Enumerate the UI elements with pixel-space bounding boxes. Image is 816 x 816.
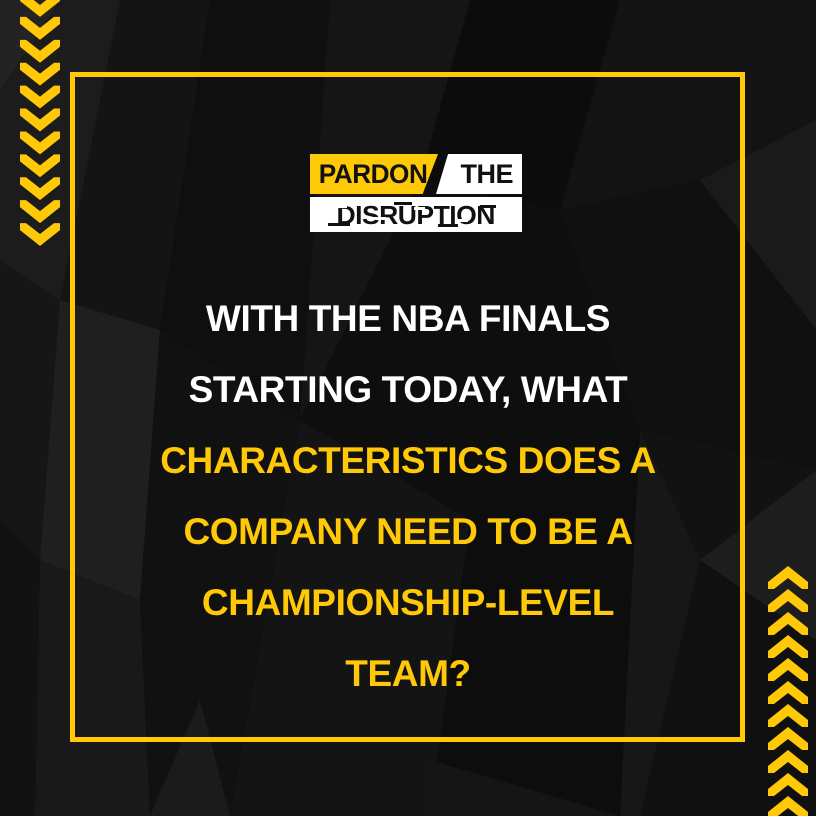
- headline-line-5: CHAMPIONSHIP-LEVEL: [108, 567, 708, 638]
- logo-the-text: THE: [461, 161, 523, 188]
- logo-disruption-text: DISRUPTION: [337, 202, 495, 228]
- headline-line-6: TEAM?: [108, 638, 708, 709]
- logo-pardon-block: PARDON: [310, 154, 438, 194]
- headline-line-1: WITH THE NBA FINALS: [108, 283, 708, 354]
- brand-logo: PARDON THE DISRUPTION: [310, 154, 522, 232]
- social-media-graphic: PARDON THE DISRUPTION WITH THE NBA FINAL…: [0, 0, 816, 816]
- headline-line-2: STARTING TODAY, WHAT: [108, 354, 708, 425]
- headline-line-4: COMPANY NEED TO BE A: [108, 496, 708, 567]
- headline-question: WITH THE NBA FINALS STARTING TODAY, WHAT…: [108, 283, 708, 709]
- logo-the-block: THE: [436, 154, 522, 194]
- logo-bottom-row: DISRUPTION: [310, 197, 522, 232]
- chevron-down-icon-strip: [20, 0, 60, 246]
- logo-top-row: PARDON THE: [310, 154, 522, 194]
- chevron-up-icon-strip: [768, 566, 808, 816]
- headline-line-3: CHARACTERISTICS DOES A: [108, 425, 708, 496]
- logo-pardon-text: PARDON: [310, 161, 427, 188]
